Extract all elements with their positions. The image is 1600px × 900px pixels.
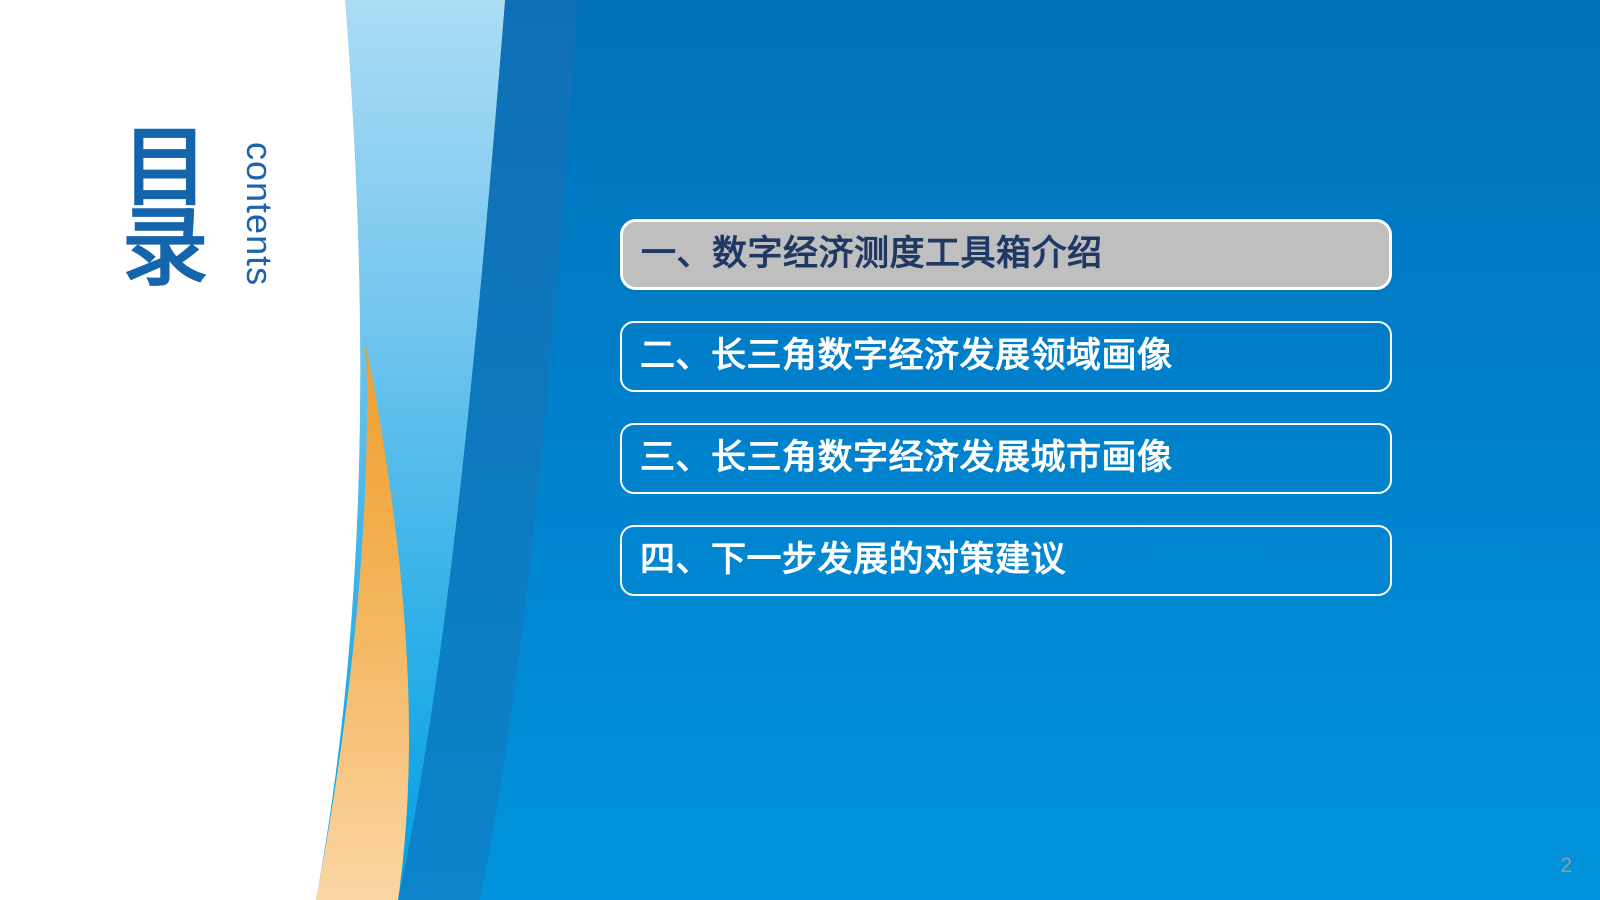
page-title-en: contents: [238, 142, 280, 286]
agenda-item-3[interactable]: 三、长三角数字经济发展城市画像: [620, 423, 1392, 494]
page-title-cn: 目 录: [122, 128, 232, 288]
title-block: 目 录 contents: [122, 128, 312, 338]
agenda-item-1[interactable]: 一、数字经济测度工具箱介绍: [620, 219, 1392, 290]
page-title-en-wrap: contents: [246, 142, 282, 342]
agenda-item-1-label: 一、数字经济测度工具箱介绍: [641, 237, 1103, 272]
agenda-list: 一、数字经济测度工具箱介绍 二、长三角数字经济发展领域画像 三、长三角数字经济发…: [620, 219, 1392, 627]
agenda-item-2-label: 二、长三角数字经济发展领域画像: [640, 339, 1173, 374]
agenda-item-4[interactable]: 四、下一步发展的对策建议: [620, 525, 1392, 596]
slide-canvas: 目 录 contents 一、数字经济测度工具箱介绍 二、长三角数字经济发展领域…: [0, 0, 1600, 900]
page-number: 2: [1560, 854, 1572, 878]
agenda-item-4-label: 四、下一步发展的对策建议: [640, 543, 1066, 578]
agenda-item-3-label: 三、长三角数字经济发展城市画像: [640, 441, 1173, 476]
agenda-item-2[interactable]: 二、长三角数字经济发展领域画像: [620, 321, 1392, 392]
